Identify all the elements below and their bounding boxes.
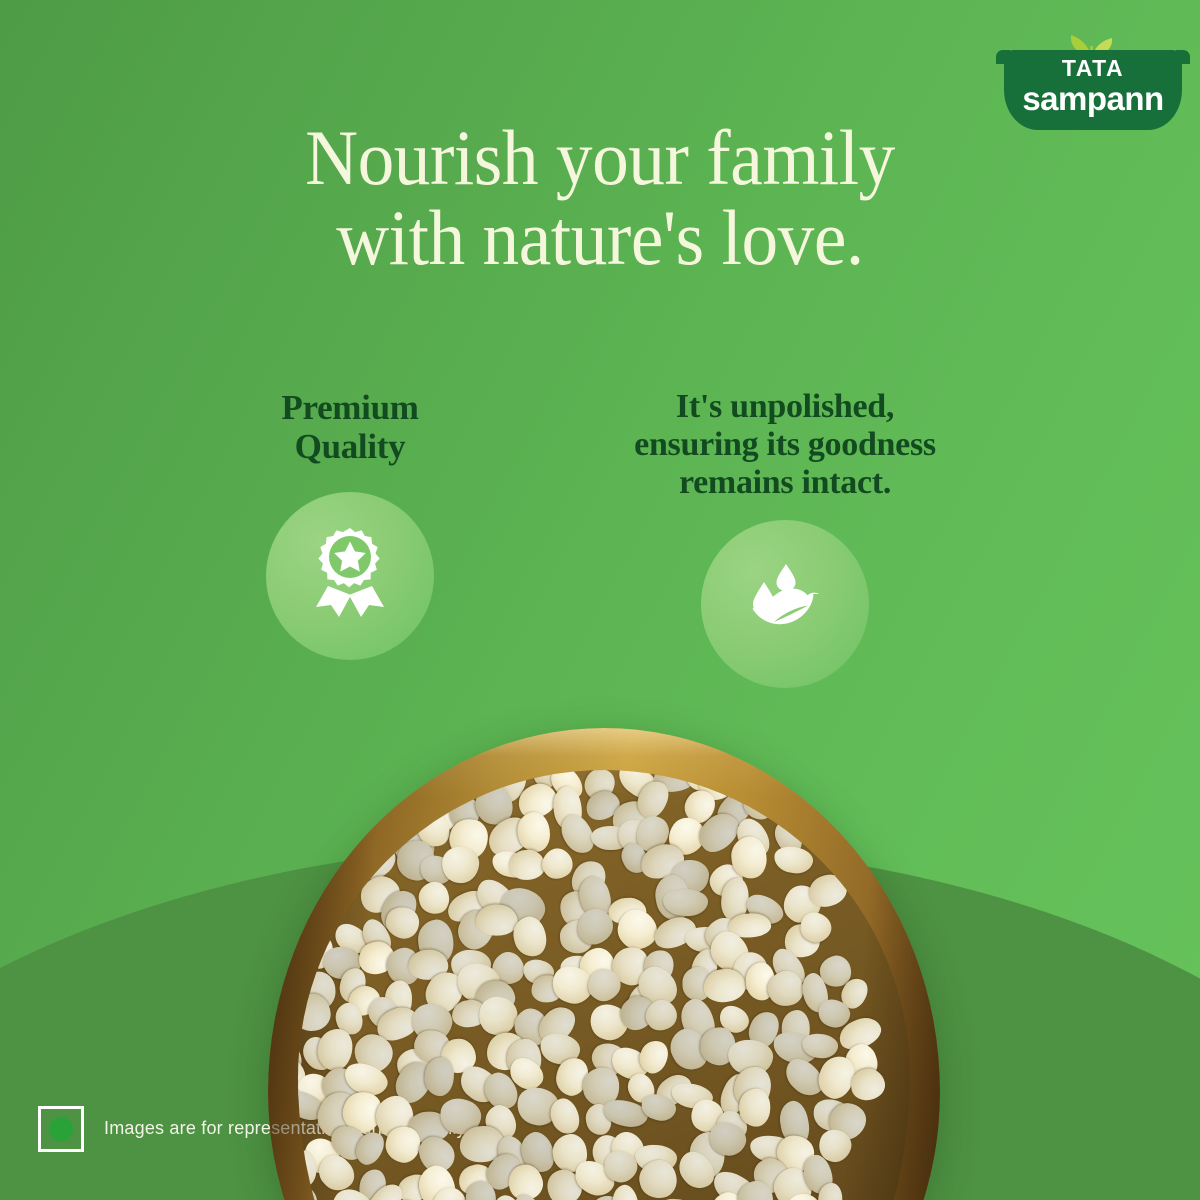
vegetarian-mark-icon	[38, 1106, 84, 1152]
leaf-water-drop-icon	[733, 552, 837, 656]
feature-unpolished: It's unpolished, ensuring its goodness r…	[570, 388, 1000, 688]
promo-banner: TATA sampann Nourish your family with na…	[0, 0, 1200, 1200]
tata-sampann-logo: TATA sampann	[1004, 22, 1182, 132]
feature-icon-circle-unpolished	[701, 520, 869, 688]
feature-title-line-1: It's unpolished,	[676, 388, 894, 425]
feature-title-line-3: remains intact.	[679, 464, 891, 501]
bowl-interior	[298, 770, 910, 1200]
feature-title-premium-quality: Premium Quality	[281, 388, 418, 466]
headline: Nourish your family with nature's love.	[36, 118, 1164, 279]
product-bowl	[268, 728, 940, 1200]
feature-title-unpolished: It's unpolished, ensuring its goodness r…	[634, 388, 936, 502]
logo-sampann-text: sampann	[1004, 80, 1182, 118]
feature-title-line-2: ensuring its goodness	[634, 426, 936, 463]
vegetarian-mark-dot	[49, 1117, 73, 1141]
feature-list: Premium Quality It's unpolished, ensur	[0, 388, 1200, 688]
urad-dal-grains	[298, 770, 910, 1200]
feature-icon-circle-premium-quality	[266, 492, 434, 660]
feature-title-line-1: Premium	[281, 388, 418, 427]
headline-line-1: Nourish your family	[305, 114, 895, 201]
headline-line-2: with nature's love.	[36, 198, 1164, 278]
logo-tata-text: TATA	[1004, 55, 1182, 82]
feature-title-line-2: Quality	[295, 427, 406, 466]
award-badge-icon	[298, 524, 402, 628]
feature-premium-quality: Premium Quality	[200, 388, 500, 660]
